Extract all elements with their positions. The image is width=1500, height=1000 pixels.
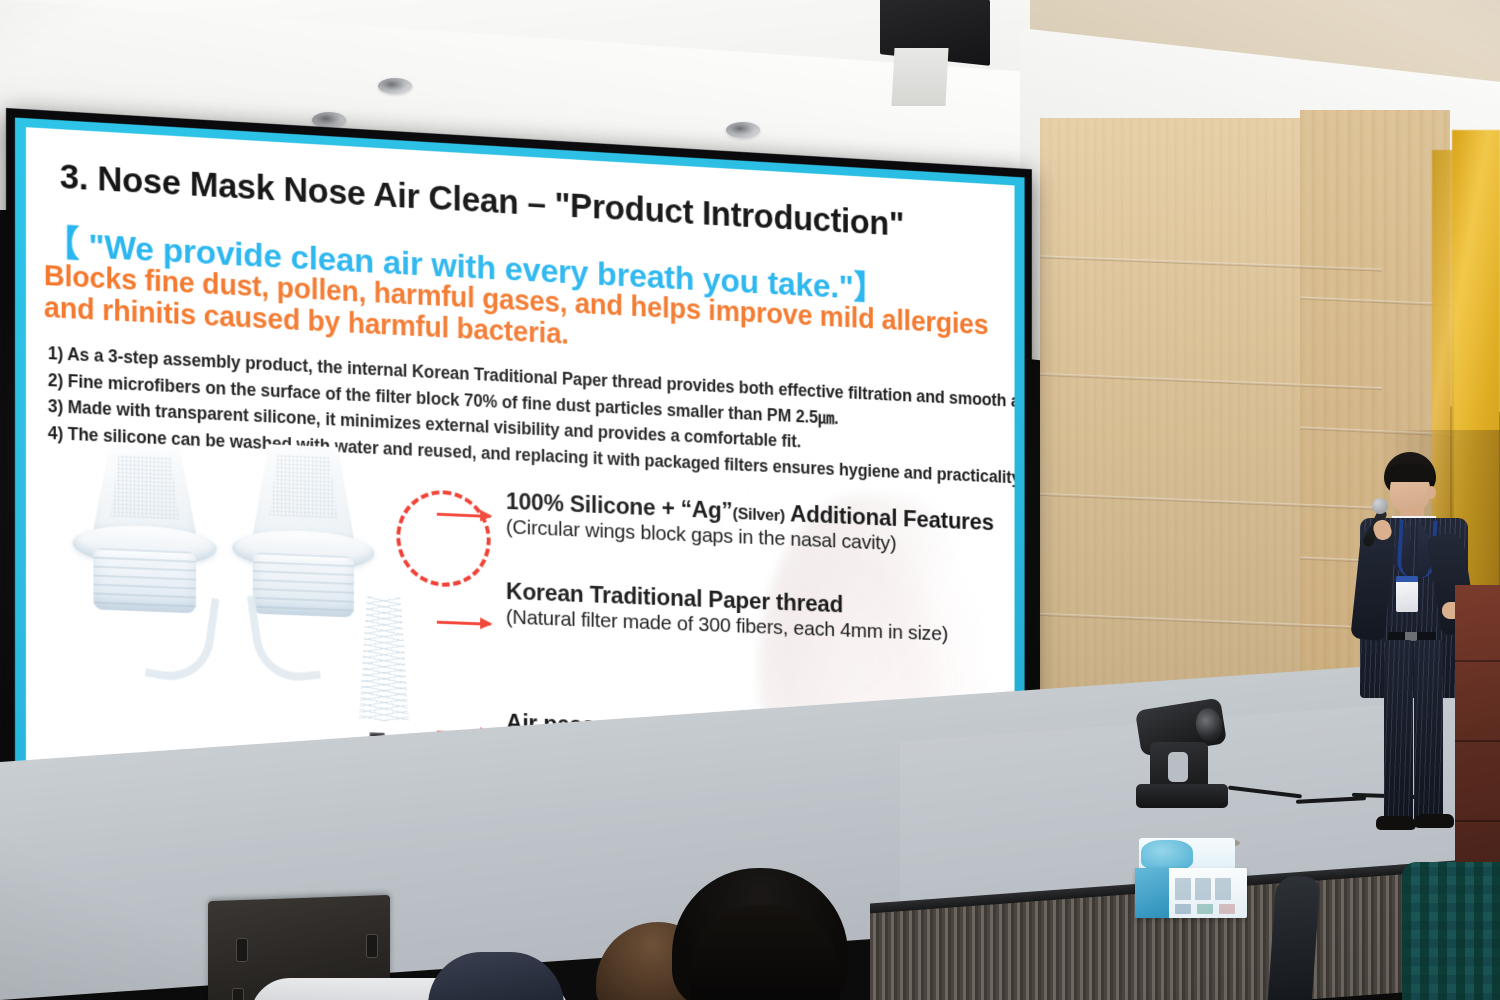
moving-head-stage-light	[1122, 700, 1232, 812]
speaker-latch	[236, 938, 248, 962]
microphone-head-icon	[1372, 498, 1388, 514]
downlight-icon	[378, 78, 412, 94]
podium-seam	[1455, 820, 1500, 822]
highlight-dashed-circle	[396, 488, 490, 588]
audience-plaid-shirt	[1402, 862, 1500, 1000]
downlight-icon	[726, 122, 760, 138]
podium	[1455, 585, 1500, 885]
speaker-latch	[232, 988, 244, 1000]
presenter-badge	[1396, 576, 1418, 612]
display-box-item	[1215, 878, 1231, 900]
speaker-latch	[366, 934, 378, 958]
presenter-trouser-left	[1384, 640, 1413, 822]
display-box-logo-icon	[1141, 840, 1193, 870]
podium-seam	[1455, 660, 1500, 662]
korean-paper-thread-fiber	[349, 596, 419, 723]
light-base	[1136, 784, 1228, 808]
display-box-item	[1219, 904, 1235, 914]
display-box-front-panel	[1135, 868, 1169, 918]
display-box-item	[1175, 878, 1191, 900]
silicone-mesh	[269, 454, 337, 518]
presenter-shoe-right	[1414, 814, 1454, 828]
silicone-tail	[247, 590, 321, 685]
podium-seam	[1455, 740, 1500, 742]
presenter-ear	[1427, 486, 1436, 499]
display-box-item	[1175, 904, 1191, 914]
display-box-item	[1195, 878, 1211, 900]
silicone-tail	[145, 588, 220, 687]
presenter-shoe-left	[1376, 816, 1416, 830]
presenter-hair-front	[1386, 464, 1434, 482]
bracket-open-glyph: 【	[44, 222, 80, 265]
projector-mount	[891, 48, 948, 106]
chair-back	[1268, 875, 1321, 1000]
presenter-trouser-right	[1414, 640, 1443, 822]
light-yoke-gap	[1168, 752, 1188, 782]
product-display-box	[1135, 838, 1253, 920]
presentation-room-scene: 3. Nose Mask Nose Air Clean – "Product I…	[0, 0, 1500, 1000]
callout-headline-small: (Silver)	[733, 504, 785, 525]
silicone-mesh	[110, 455, 179, 520]
display-box-item	[1197, 904, 1213, 914]
